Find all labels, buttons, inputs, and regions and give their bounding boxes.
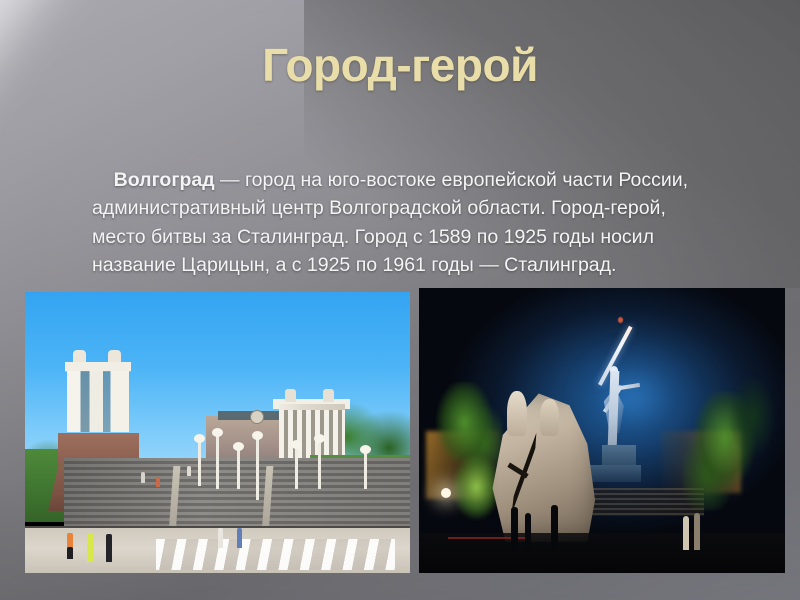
colonnade-statue-right <box>323 389 334 402</box>
pedestrian <box>237 528 242 548</box>
photo-volgograd-embankment[interactable] <box>25 292 410 573</box>
pedestrian <box>106 534 112 562</box>
pedestrian <box>87 534 94 562</box>
photo-right-content <box>419 288 785 573</box>
rock-figure-left <box>507 391 527 437</box>
colonnade-statue-left <box>285 389 296 402</box>
street-lamp <box>198 441 201 486</box>
visitor-silhouette <box>694 513 700 550</box>
pedestrian <box>218 528 223 548</box>
slide-body-text: Волгоград — город на юго-востоке европей… <box>92 137 704 309</box>
dark-tree-right <box>723 368 782 465</box>
photo-mamayev-kurgan[interactable] <box>419 288 785 573</box>
photo-left-content <box>25 292 410 573</box>
street-lamp <box>256 438 259 500</box>
street-lamp <box>295 447 298 489</box>
street-lamp <box>318 441 321 489</box>
visitor-silhouette <box>551 505 558 551</box>
visitor-silhouette <box>683 516 689 550</box>
street-lamp <box>364 452 367 489</box>
pedestrian <box>156 477 160 487</box>
pedestrian <box>67 547 73 559</box>
crosswalk-markings <box>156 539 395 570</box>
slide-title: Город-герой <box>0 38 800 92</box>
statue-plinth <box>587 465 641 482</box>
rock-figure-right <box>540 399 559 436</box>
presentation-slide: Город-герой Волгоград — город на юго-вос… <box>0 0 800 600</box>
pedestrian <box>141 472 145 483</box>
visitor-silhouette <box>511 507 518 550</box>
street-lamp <box>216 435 219 488</box>
pedestrian <box>187 466 191 476</box>
foreground-ground <box>419 533 785 573</box>
body-lead-term: Волгоград <box>114 169 215 191</box>
floodlight <box>441 488 451 498</box>
street-lamp <box>237 449 240 488</box>
visitor-silhouette <box>525 513 531 550</box>
pylon-columns <box>67 371 129 433</box>
